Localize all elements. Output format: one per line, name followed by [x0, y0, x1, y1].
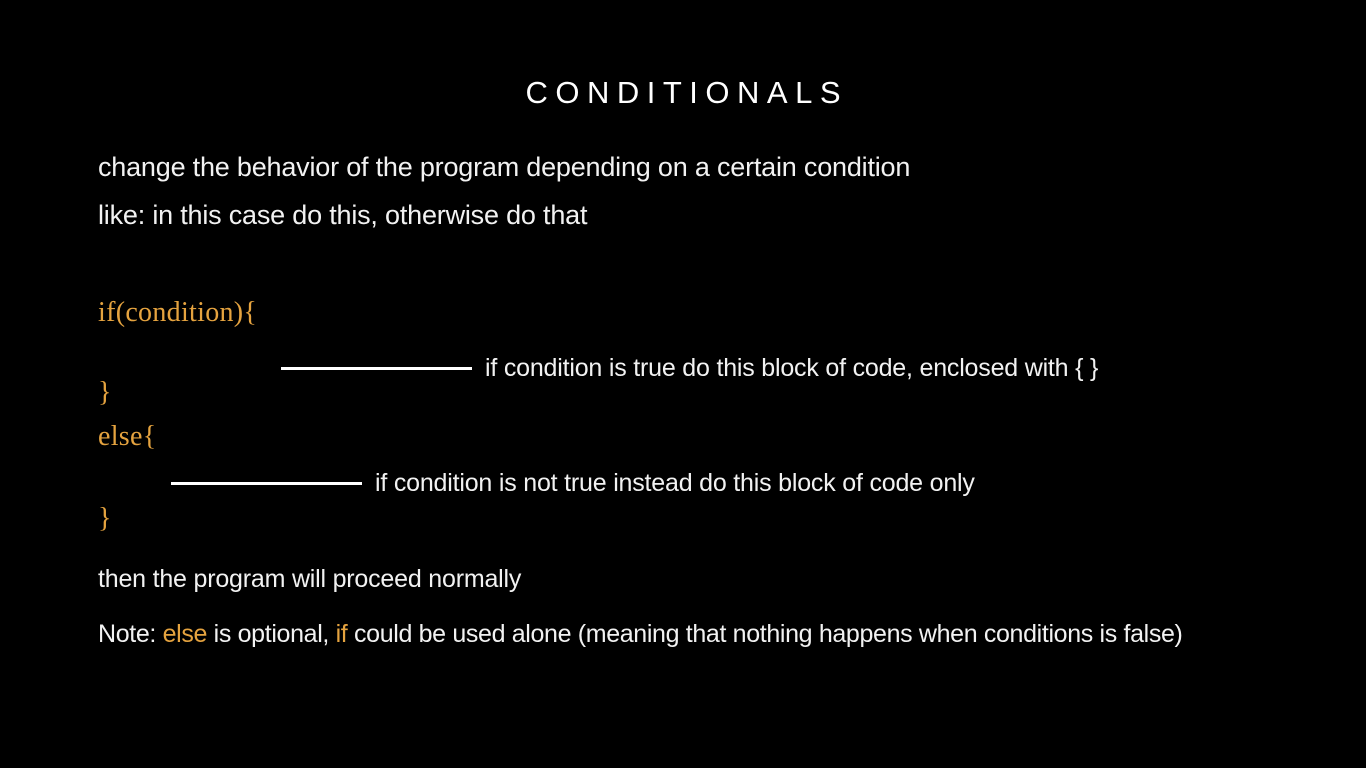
note-keyword-else: else: [163, 620, 207, 648]
code-else-close: }: [98, 505, 112, 533]
intro-line-1: change the behavior of the program depen…: [98, 152, 910, 183]
note-suffix: could be used alone (meaning that nothin…: [347, 620, 1182, 648]
closing-line: then the program will proceed normally: [98, 566, 521, 594]
note-middle: is optional,: [207, 620, 336, 648]
slide-canvas: CONDITIONALS change the behavior of the …: [0, 0, 1366, 768]
horizontal-rule-icon: [171, 482, 362, 485]
annotation-true-branch: if condition is true do this block of co…: [281, 355, 1098, 383]
annotation-false-branch-label: if condition is not true instead do this…: [375, 470, 975, 498]
note-line: Note: else is optional, if could be used…: [98, 621, 1183, 649]
code-if-close: }: [98, 379, 112, 407]
code-else-open: else{: [98, 423, 156, 451]
intro-line-2: like: in this case do this, otherwise do…: [98, 200, 587, 231]
note-keyword-if: if: [336, 620, 348, 648]
code-if-open: if(condition){: [98, 299, 257, 327]
annotation-false-branch: if condition is not true instead do this…: [171, 470, 975, 498]
horizontal-rule-icon: [281, 367, 472, 370]
note-prefix: Note:: [98, 620, 163, 648]
page-title: CONDITIONALS: [0, 77, 1366, 108]
annotation-true-branch-label: if condition is true do this block of co…: [485, 355, 1098, 383]
